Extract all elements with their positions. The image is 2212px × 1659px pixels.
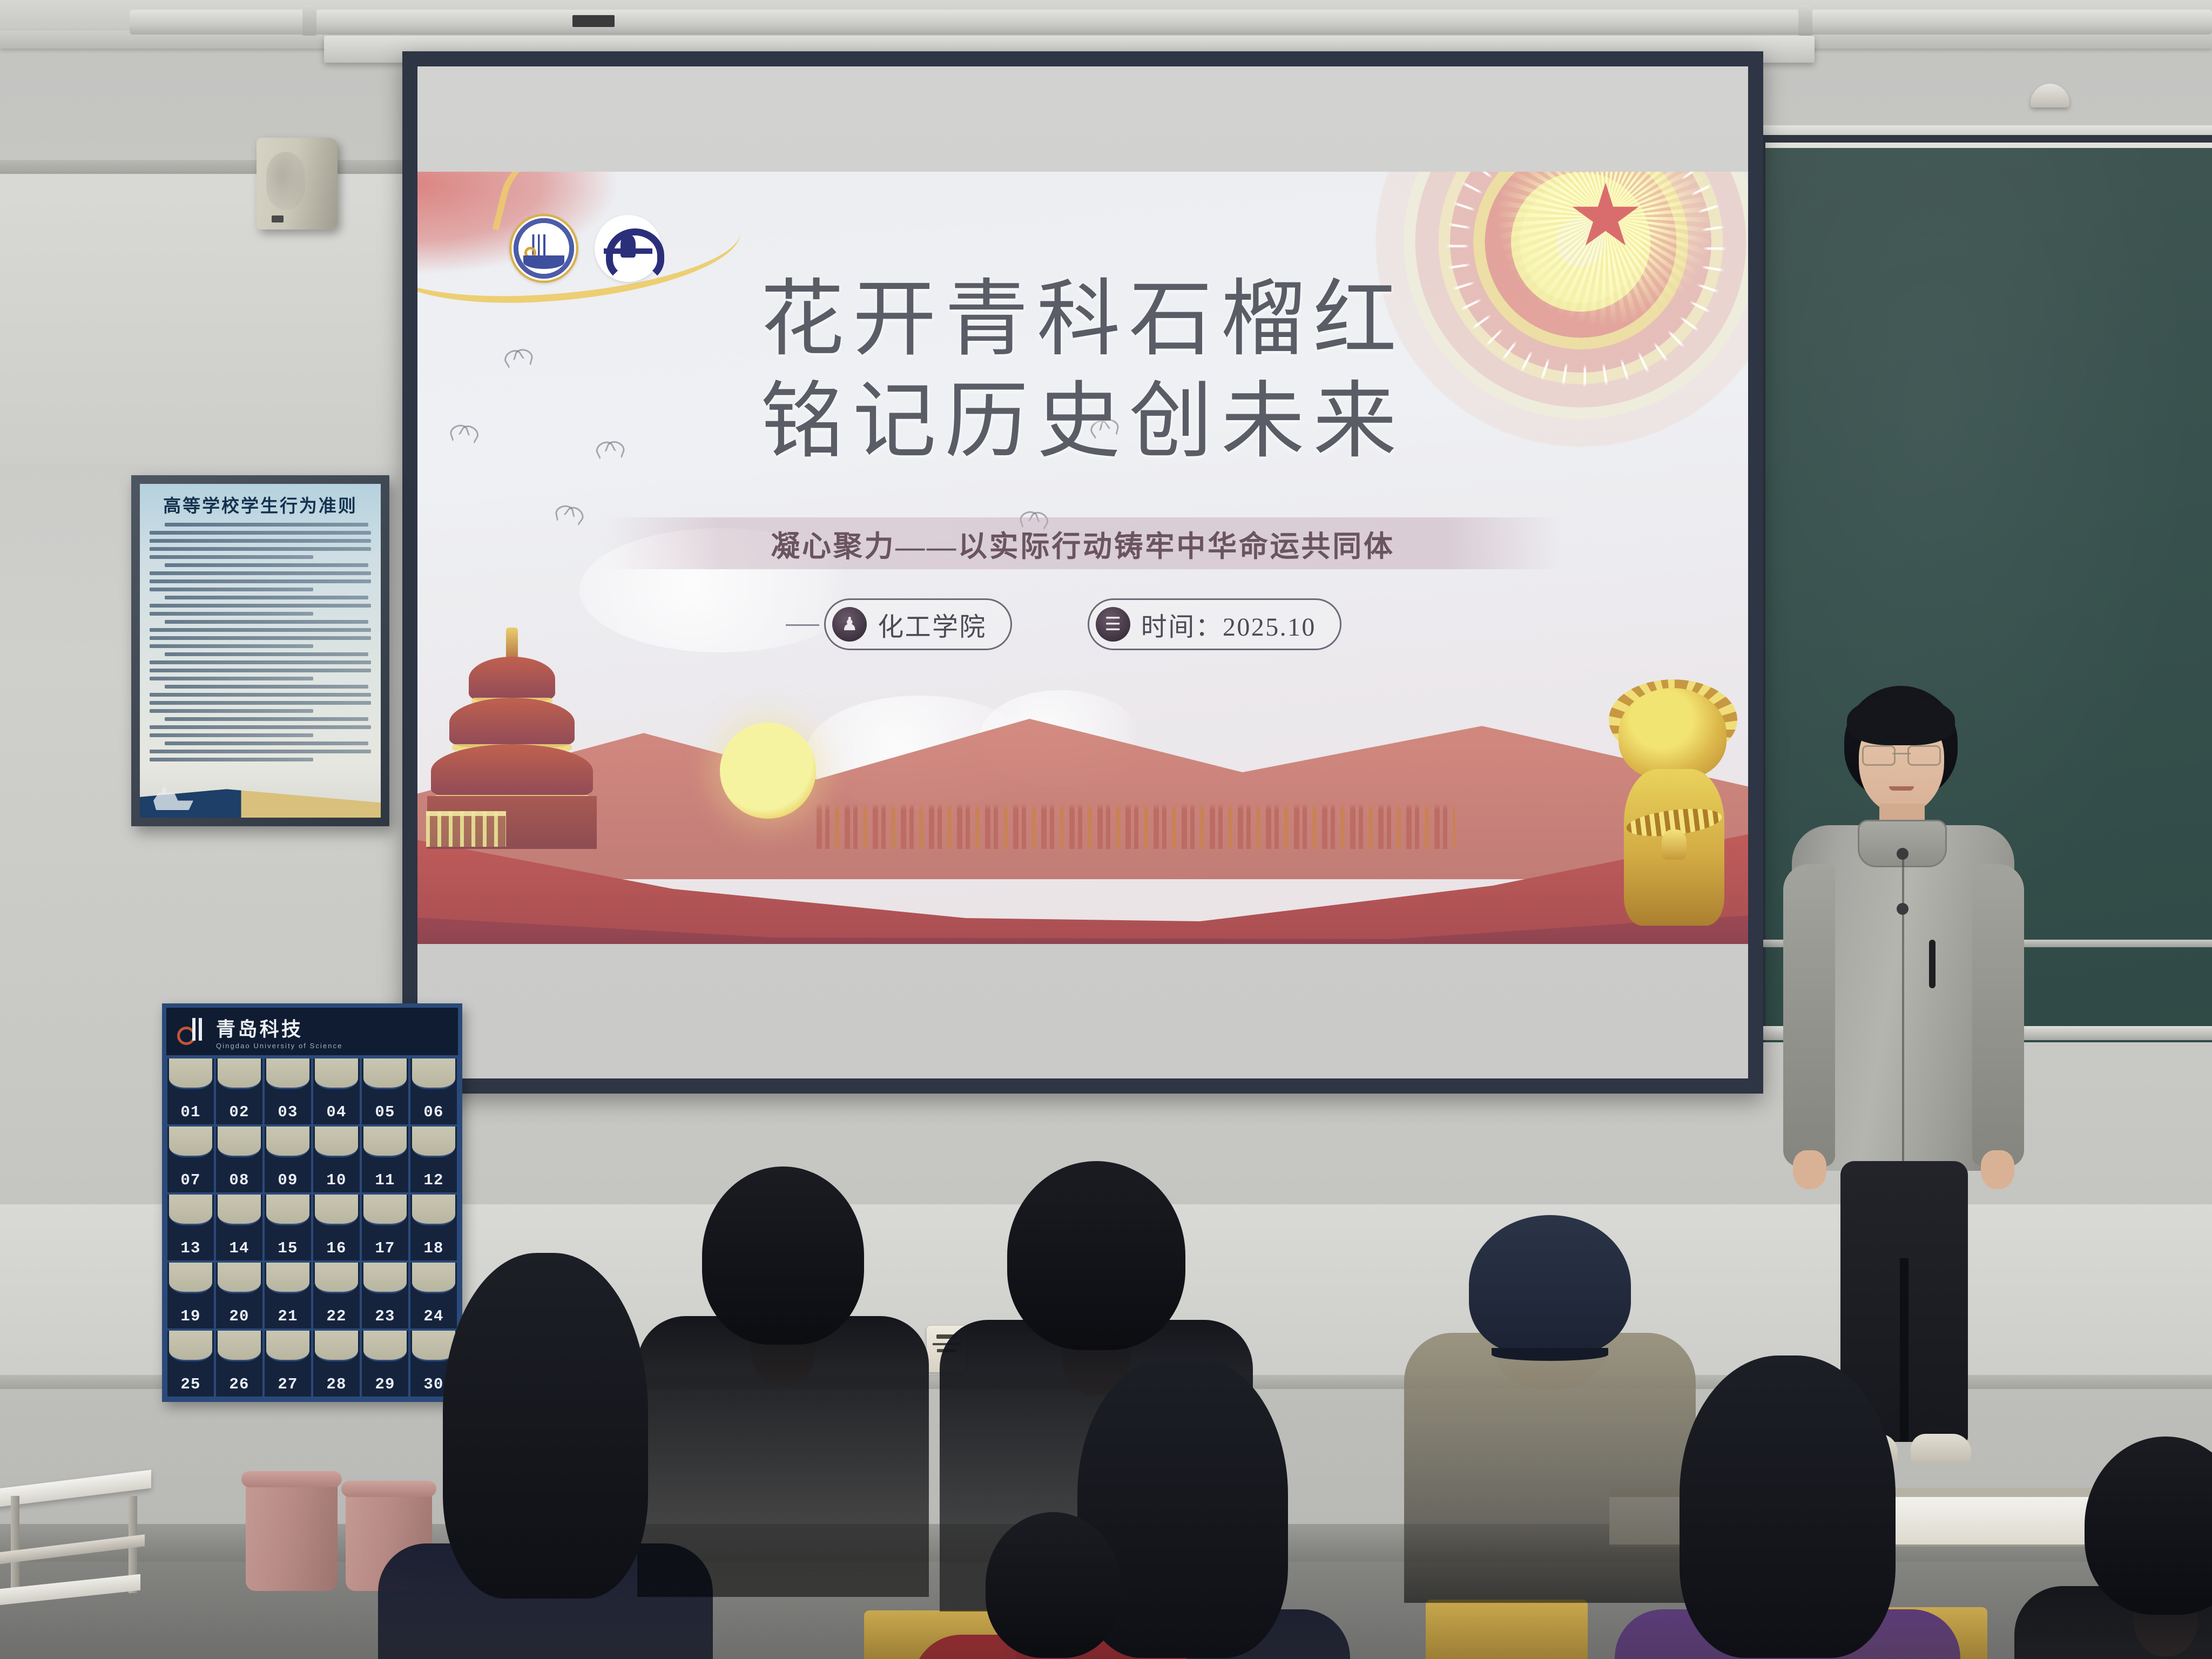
pocket-organizer-header: 青岛科技 Qingdao University of Science (166, 1008, 458, 1057)
poster-line (150, 758, 313, 761)
projector-screen-surface: 花开青科石榴红 铭记历史创未来 凝心聚力——以实际行动铸牢中华命运共同体 ♟ 化… (417, 66, 1748, 1078)
presenter-mouth (1889, 786, 1914, 791)
pocket-slot[interactable]: 16 (312, 1193, 361, 1262)
pocket-number: 27 (278, 1375, 298, 1393)
poster-line (150, 725, 371, 729)
pocket-slot[interactable]: 28 (312, 1330, 361, 1398)
pocket-slot[interactable]: 01 (166, 1057, 215, 1125)
pocket-number: 01 (180, 1103, 200, 1121)
pocket-number: 13 (180, 1239, 200, 1257)
audience-hair (443, 1253, 648, 1599)
pocket-number: 08 (229, 1171, 249, 1189)
pocket-number: 09 (278, 1171, 298, 1189)
pocket-number: 26 (229, 1375, 249, 1393)
pocket-slot[interactable]: 26 (215, 1330, 264, 1398)
slide-subtitle: 凝心聚力——以实际行动铸牢中华命运共同体 (771, 522, 1395, 565)
student-cap (1404, 1215, 1696, 1647)
pocket-number: 25 (180, 1375, 200, 1393)
pocket-slot[interactable]: 20 (215, 1262, 264, 1330)
pocket-number: 11 (375, 1171, 395, 1189)
poster-line (150, 612, 313, 616)
poster-line (150, 579, 371, 583)
pocket-slot[interactable]: 22 (312, 1262, 361, 1330)
front-desk-2 (0, 1582, 146, 1659)
pocket-slot[interactable]: 08 (215, 1125, 264, 1193)
slide-pill-date-label: 时间：2025.10 (1141, 605, 1316, 643)
student-code-of-conduct-poster: 高等学校学生行为准则 (140, 484, 381, 818)
poster-line (150, 701, 371, 705)
pocket-number: 14 (229, 1239, 249, 1257)
ceiling-conduit (130, 10, 2212, 35)
audience-hair (2085, 1437, 2212, 1615)
presenter-fringe (1847, 696, 1955, 745)
pocket-number: 03 (278, 1103, 298, 1121)
presenter-hand-left (1793, 1150, 1826, 1189)
slide-title-line-2: 铭记历史创未来 (417, 371, 1748, 473)
dove-icon (554, 504, 585, 524)
college-logo-mark (621, 235, 635, 258)
qust-logo-icon (176, 1017, 207, 1046)
pocket-number: 21 (278, 1307, 298, 1325)
poster-line (150, 571, 371, 575)
pocket-slot[interactable]: 11 (361, 1125, 409, 1193)
pocket-slot[interactable]: 25 (166, 1330, 215, 1398)
glasses-icon (1862, 745, 1941, 764)
poster-line (150, 531, 371, 535)
pocket-number: 22 (326, 1307, 346, 1325)
desk-leg (11, 1496, 19, 1593)
pocket-slot[interactable]: 27 (264, 1330, 312, 1398)
projector-screen-frame: 花开青科石榴红 铭记历史创未来 凝心聚力——以实际行动铸牢中华命运共同体 ♟ 化… (402, 51, 1763, 1094)
presenter-jacket-snap (1897, 848, 1908, 860)
calendar-icon: ☰ (1096, 607, 1130, 642)
pocket-organizer-brand-block: 青岛科技 Qingdao University of Science (216, 1014, 342, 1050)
pocket-organizer-brand: 青岛科技 (216, 1019, 303, 1040)
pocket-slot[interactable]: 10 (312, 1125, 361, 1193)
poster-line (165, 741, 368, 745)
audience-hair (702, 1166, 864, 1345)
pocket-number: 04 (326, 1103, 346, 1121)
pocket-slot[interactable]: 13 (166, 1193, 215, 1262)
presenter-arm-right (1972, 864, 2024, 1166)
slide-pill-department: ♟ 化工学院 (824, 598, 1012, 650)
conduit-clip (302, 5, 316, 36)
conduit-label (572, 15, 615, 27)
poster-line (165, 523, 368, 527)
slide-pill-department-label: 化工学院 (878, 605, 987, 643)
pocket-number: 16 (326, 1239, 346, 1257)
slide-info-pills: ♟ 化工学院 ☰ 时间：2025.10 (417, 598, 1748, 650)
poster-line (150, 644, 313, 648)
pill-tick-mark (786, 624, 819, 626)
pocket-slot[interactable]: 06 (409, 1057, 458, 1125)
pocket-number: 15 (278, 1239, 298, 1257)
pocket-slot[interactable]: 12 (409, 1125, 458, 1193)
pocket-number: 07 (180, 1171, 200, 1189)
presenter-arm-left (1783, 864, 1835, 1166)
pocket-slot[interactable]: 04 (312, 1057, 361, 1125)
student-code-of-conduct-poster-frame: 高等学校学生行为准则 (131, 475, 389, 826)
presenter-jacket-zipper (1902, 848, 1904, 1166)
poster-line (150, 628, 371, 632)
student-far-right (2014, 1437, 2212, 1659)
presenter-hand-right (1981, 1150, 2014, 1189)
presenter-jacket-snap (1897, 903, 1908, 915)
poster-line (165, 685, 368, 689)
poster-line (150, 750, 371, 753)
temple-tier (449, 698, 575, 747)
poster-line (165, 652, 368, 656)
poster-line (150, 555, 313, 559)
poster-line (150, 669, 371, 672)
pocket-slot[interactable]: 15 (264, 1193, 312, 1262)
pocket-slot[interactable]: 21 (264, 1262, 312, 1330)
temple-railing (426, 811, 506, 847)
poster-line (150, 539, 371, 543)
slide-pill-date: ☰ 时间：2025.10 (1088, 598, 1341, 650)
temple-tier (469, 657, 555, 701)
poster-line (165, 563, 368, 567)
poster-line (150, 636, 371, 640)
student-second-left (637, 1166, 929, 1609)
pocket-slot[interactable]: 03 (264, 1057, 312, 1125)
pocket-slot[interactable]: 07 (166, 1125, 215, 1193)
pocket-slot[interactable]: 18 (409, 1193, 458, 1262)
poster-line (150, 733, 313, 737)
golden-guardian-lion (1606, 688, 1741, 926)
person-icon: ♟ (832, 607, 867, 642)
poster-line (165, 620, 368, 624)
poster-line (150, 693, 371, 697)
classroom-scene: 花开青科石榴红 铭记历史创未来 凝心聚力——以实际行动铸牢中华命运共同体 ♟ 化… (0, 0, 2212, 1659)
sun-icon (720, 723, 816, 819)
pocket-slot[interactable]: 09 (264, 1125, 312, 1193)
pocket-number: 06 (423, 1103, 443, 1121)
trash-bin-1 (246, 1473, 338, 1591)
city-skyline-silhouette (817, 799, 1455, 849)
presentation-slide: 花开青科石榴红 铭记历史创未来 凝心聚力——以实际行动铸牢中华命运共同体 ♟ 化… (417, 172, 1748, 944)
pocket-slot[interactable]: 05 (361, 1057, 409, 1125)
poster-line (150, 604, 371, 608)
pocket-number: 02 (229, 1103, 249, 1121)
pocket-number: 05 (375, 1103, 395, 1121)
temple-of-heaven-silhouette (423, 625, 601, 863)
pocket-organizer-brand-en: Qingdao University of Science (216, 1042, 342, 1050)
poster-body-text (145, 523, 375, 761)
pocket-number: 12 (423, 1171, 443, 1189)
wall-speaker (257, 138, 338, 230)
lion-head (1618, 688, 1727, 780)
poster-line (150, 709, 313, 713)
pocket-slot[interactable]: 02 (215, 1057, 264, 1125)
poster-line (165, 596, 368, 599)
desk-shelf (0, 1534, 145, 1564)
cap-brim (1492, 1348, 1608, 1361)
poster-line (150, 588, 313, 591)
pocket-number: 19 (180, 1307, 200, 1325)
audience-hair (986, 1512, 1121, 1658)
slide-title-block: 花开青科石榴红 铭记历史创未来 (417, 269, 1748, 473)
baseball-cap (1469, 1215, 1631, 1355)
poster-line (150, 660, 371, 664)
poster-line (150, 547, 371, 551)
glasses-bridge (1892, 753, 1911, 754)
poster-line (150, 677, 313, 680)
audience-hair (1680, 1355, 1896, 1658)
poster-line (165, 717, 368, 721)
pocket-slot[interactable]: 14 (215, 1193, 264, 1262)
presenter-chest-pocket-zip (1929, 940, 1935, 988)
conduit-clip (1798, 5, 1812, 36)
slide-title-line-1: 花开青科石榴红 (417, 269, 1748, 371)
temple-tier (431, 744, 593, 798)
audience-hair (1007, 1161, 1185, 1350)
slide-subtitle-band: 凝心聚力——以实际行动铸牢中华命运共同体 (604, 517, 1562, 569)
audience-torso (637, 1316, 929, 1597)
pocket-number: 28 (326, 1375, 346, 1393)
pocket-number: 20 (229, 1307, 249, 1325)
qust-logo-mark (524, 247, 536, 259)
speaker-led-icon (272, 215, 284, 222)
audience-torso (1404, 1333, 1696, 1603)
poster-title: 高等学校学生行为准则 (145, 491, 375, 517)
pocket-slot[interactable]: 19 (166, 1262, 215, 1330)
lion-bell (1662, 829, 1687, 860)
pocket-slot[interactable]: 17 (361, 1193, 409, 1262)
pocket-number: 10 (326, 1171, 346, 1189)
